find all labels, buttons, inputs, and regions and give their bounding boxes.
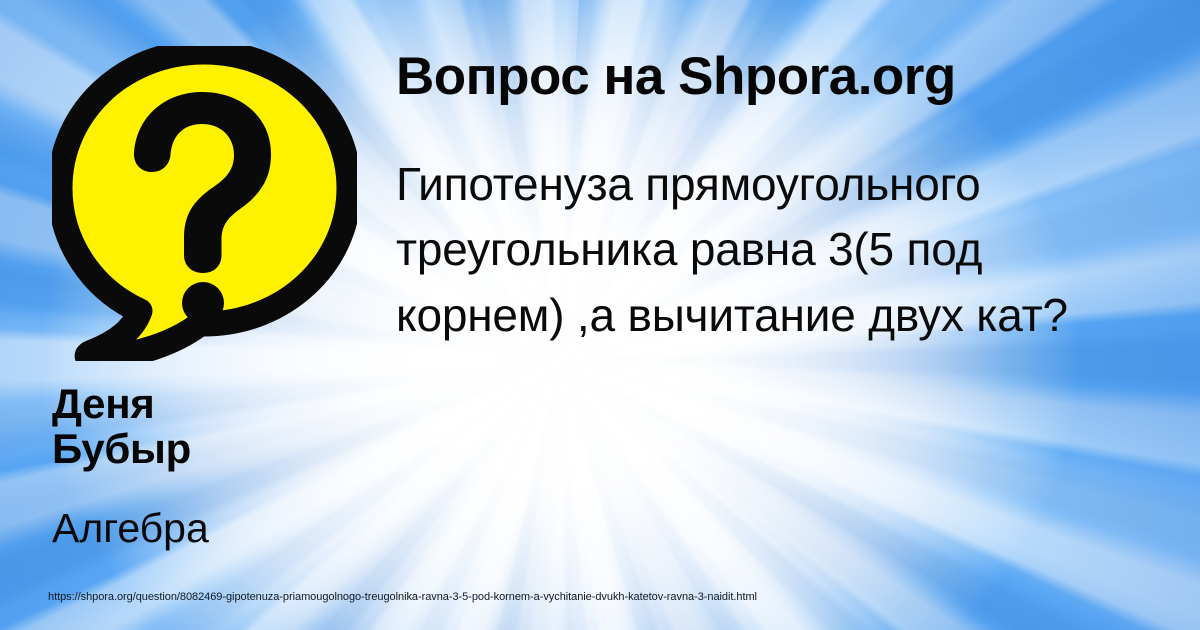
subject-label: Алгебра <box>52 506 382 551</box>
author-last-name: Бубыр <box>52 427 382 472</box>
author-name: Деня Бубыр <box>52 382 382 471</box>
question-share-card: Вопрос на Shpora.org Гипотенуза прямоуго… <box>0 0 1200 630</box>
page-title: Вопрос на Shpora.org <box>396 48 1186 105</box>
question-speech-bubble-icon <box>52 46 357 361</box>
question-line: корнем) ,а вычитание двух кат? <box>396 283 1200 348</box>
question-line: Гипотенуза прямоугольного <box>396 152 1200 217</box>
source-url: https://shpora.org/question/8082469-gipo… <box>48 591 757 603</box>
question-text: Гипотенуза прямоугольного треугольника р… <box>396 152 1200 348</box>
question-line: треугольника равна 3(5 под <box>396 217 1200 282</box>
author-first-name: Деня <box>52 382 382 427</box>
